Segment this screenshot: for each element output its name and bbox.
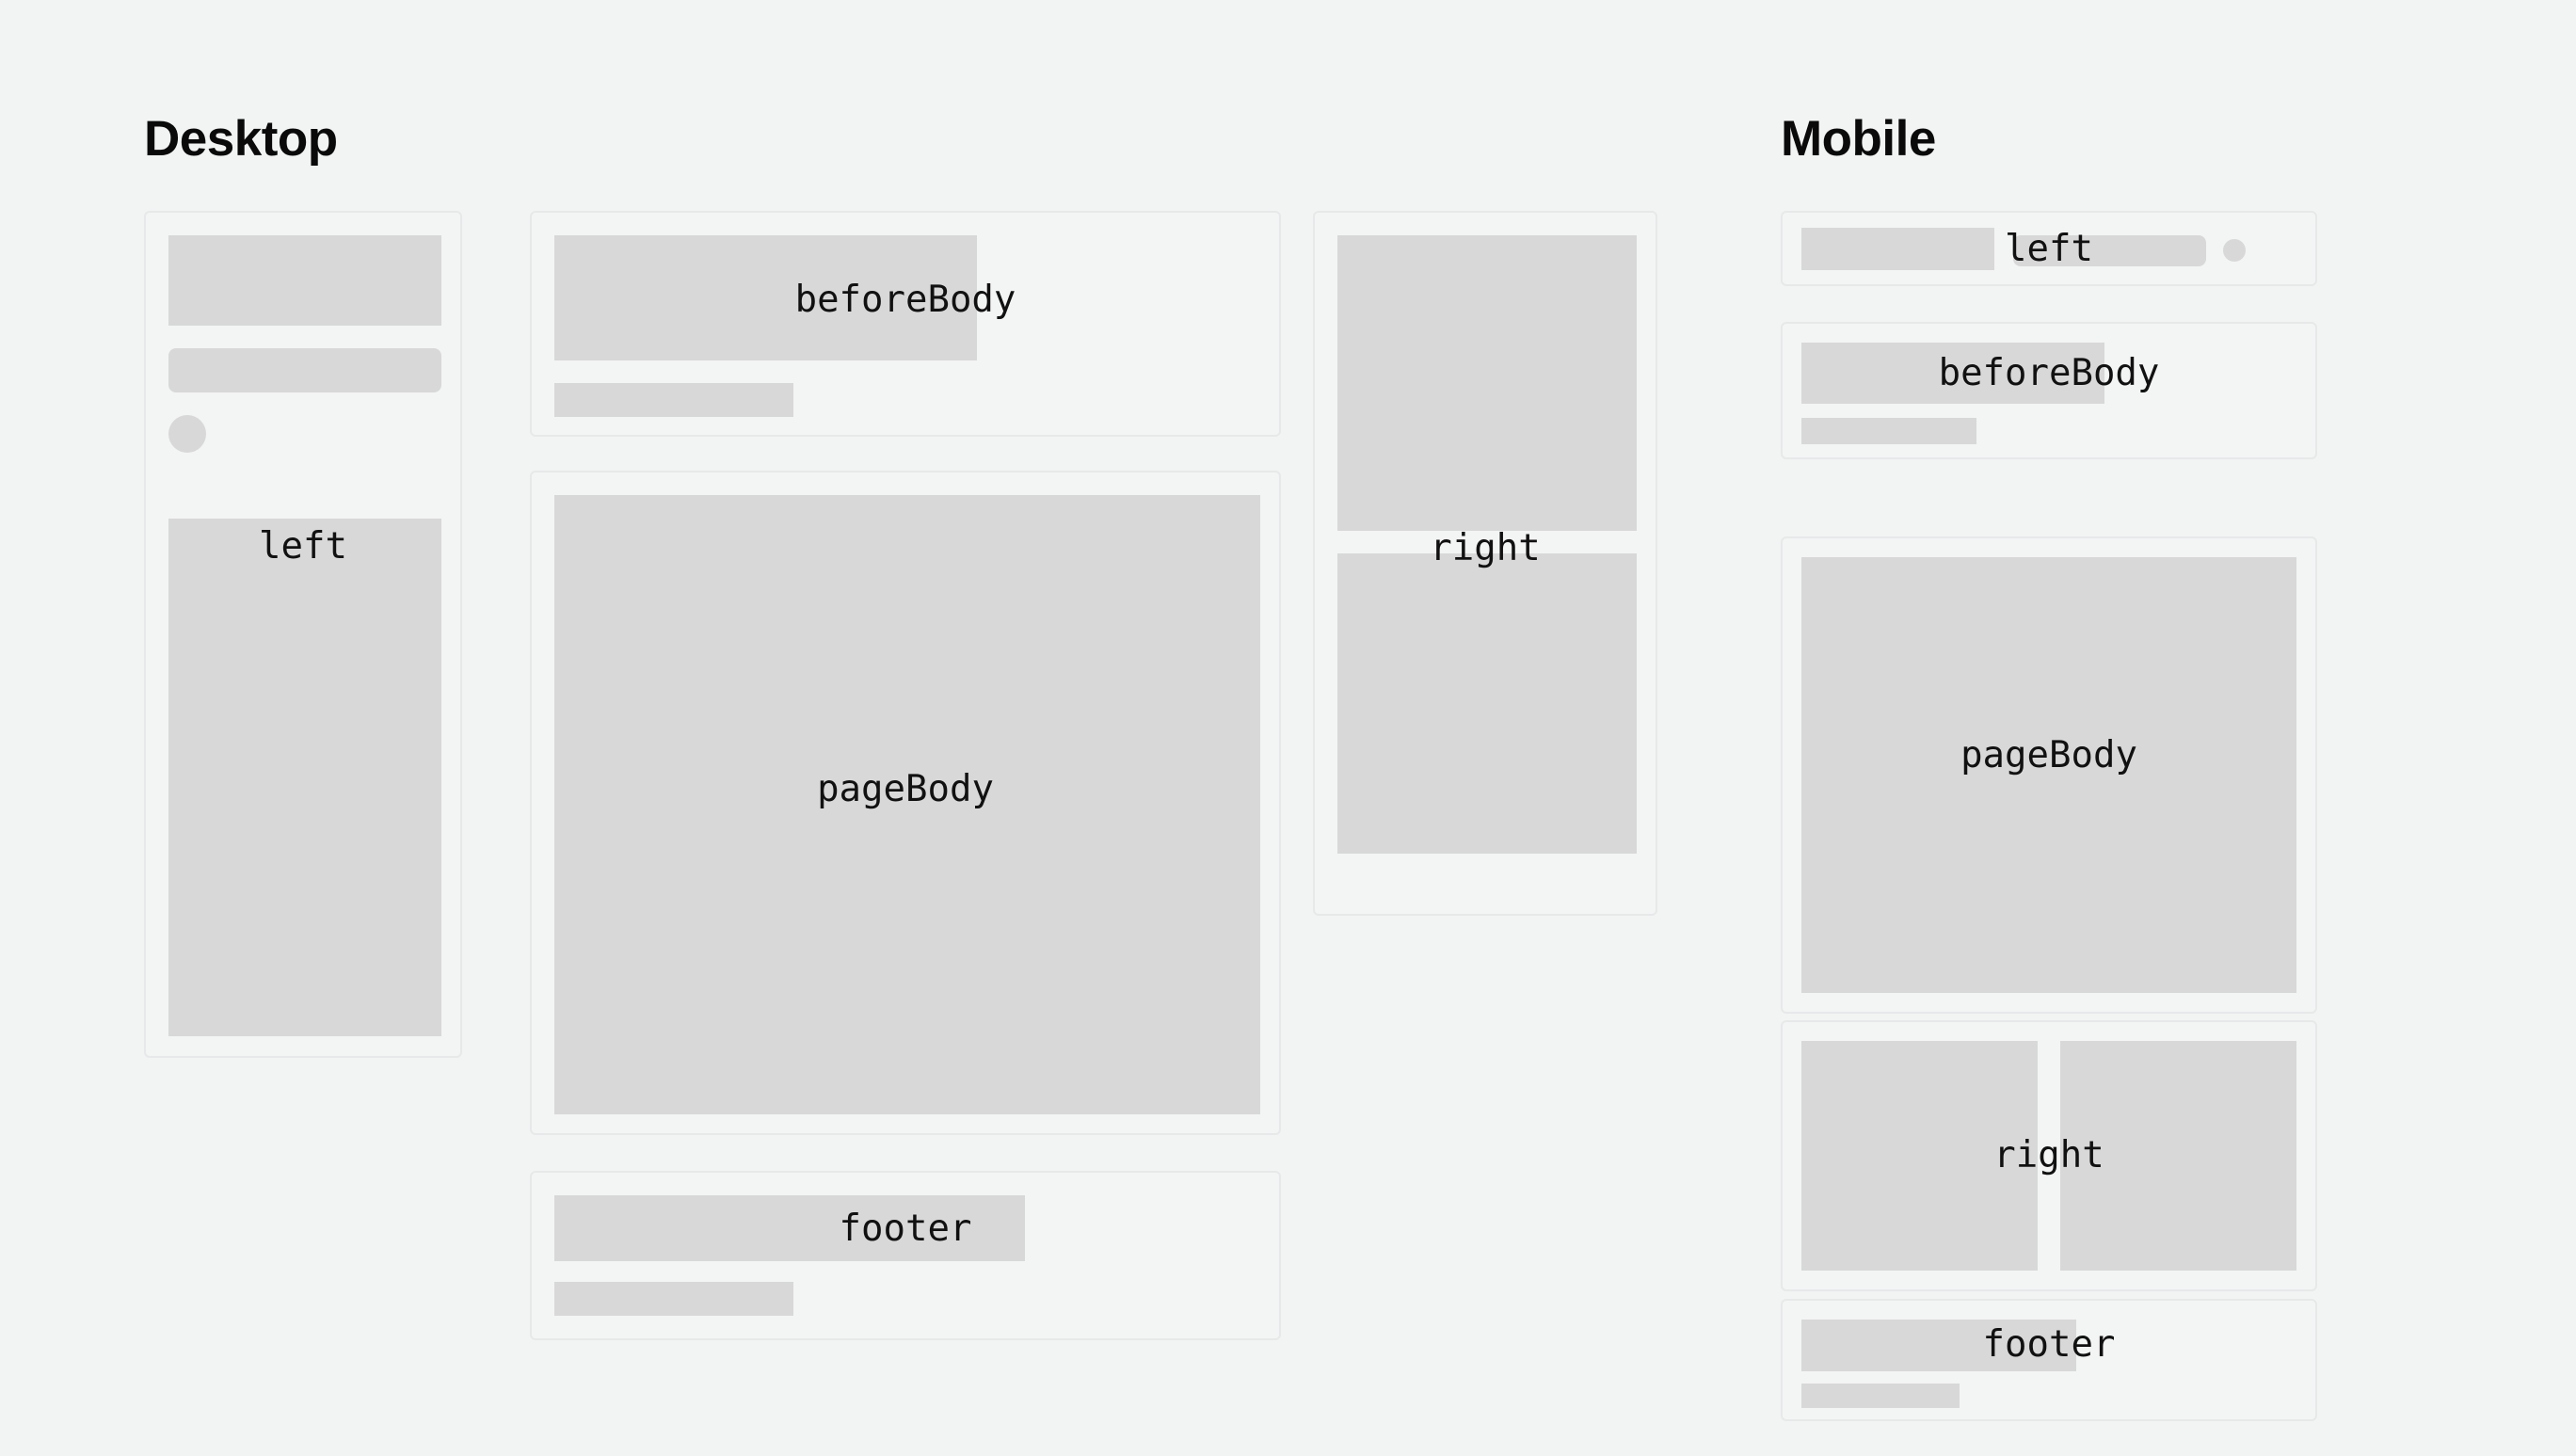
mobile-left-bar (2013, 235, 2206, 266)
desktop-footer-short-bar (554, 1282, 793, 1316)
mobile-page-body-card[interactable]: pageBody (1781, 536, 2317, 1014)
desktop-before-body-short-bar (554, 383, 793, 417)
mobile-footer-short-bar (1801, 1384, 1960, 1408)
mobile-right-right-block (2060, 1041, 2296, 1271)
mobile-footer-wide-bar (1801, 1320, 2076, 1371)
mobile-before-body-wide-block (1801, 343, 2104, 404)
mobile-page-body-large-block (1801, 557, 2296, 993)
desktop-left-header-block (168, 235, 441, 326)
mobile-before-body-card[interactable]: beforeBody (1781, 322, 2317, 459)
mobile-footer-card[interactable]: footer (1781, 1299, 2317, 1421)
desktop-right-bottom-block (1337, 553, 1637, 854)
desktop-right-top-block (1337, 235, 1637, 531)
mobile-right-panel-card[interactable]: right (1781, 1020, 2317, 1291)
desktop-left-panel-card[interactable]: left (144, 211, 462, 1058)
mobile-left-panel-card[interactable]: left (1781, 211, 2317, 286)
desktop-before-body-card[interactable]: beforeBody (530, 211, 1281, 437)
desktop-before-body-wide-block (554, 235, 977, 360)
desktop-page-body-large-block (554, 495, 1260, 1114)
page-title-mobile: Mobile (1781, 114, 1936, 164)
desktop-left-bar-block (168, 348, 441, 392)
mobile-before-body-short-bar (1801, 418, 1976, 444)
desktop-left-avatar-circle-icon (168, 415, 206, 453)
mobile-right-left-block (1801, 1041, 2038, 1271)
desktop-left-tall-block (168, 519, 441, 1036)
desktop-footer-card[interactable]: footer (530, 1171, 1281, 1340)
mobile-left-block (1801, 228, 1994, 270)
mobile-left-avatar-circle-icon (2223, 239, 2246, 262)
desktop-page-body-card[interactable]: pageBody (530, 471, 1281, 1135)
desktop-right-panel-card[interactable]: right (1313, 211, 1657, 916)
desktop-footer-wide-bar (554, 1195, 1025, 1261)
page-title-desktop: Desktop (144, 114, 338, 164)
